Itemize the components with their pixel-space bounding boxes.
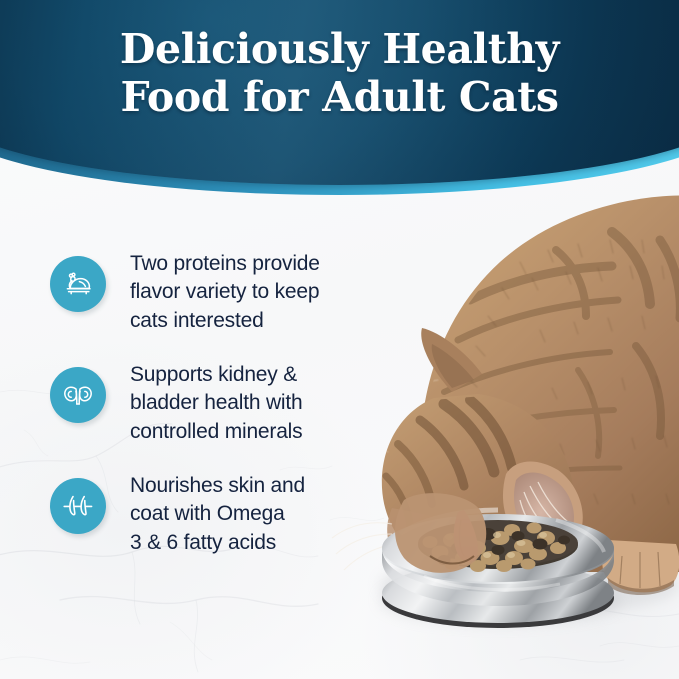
benefit-text: Nourishes skin and coat with Omega 3 & 6… <box>130 470 305 557</box>
hair-follicles-icon <box>61 489 95 523</box>
benefit-item: Two proteins provide flavor variety to k… <box>50 248 370 335</box>
benefit-icon-badge <box>50 478 106 534</box>
benefit-text: Two proteins provide flavor variety to k… <box>130 248 320 335</box>
benefit-item: Nourishes skin and coat with Omega 3 & 6… <box>50 470 370 557</box>
page-title: Deliciously Healthy Food for Adult Cats <box>0 26 679 122</box>
benefit-text: Supports kidney & bladder health with co… <box>130 359 303 446</box>
header-banner: Deliciously Healthy Food for Adult Cats <box>0 0 679 215</box>
benefit-item: Supports kidney & bladder health with co… <box>50 359 370 446</box>
benefit-icon-badge <box>50 367 106 423</box>
benefit-list: Two proteins provide flavor variety to k… <box>50 248 370 557</box>
benefit-icon-badge <box>50 256 106 312</box>
roast-chicken-platter-icon <box>61 267 95 301</box>
kidneys-icon <box>61 378 95 412</box>
product-feature-image: Deliciously Healthy Food for Adult Cats <box>0 0 679 679</box>
